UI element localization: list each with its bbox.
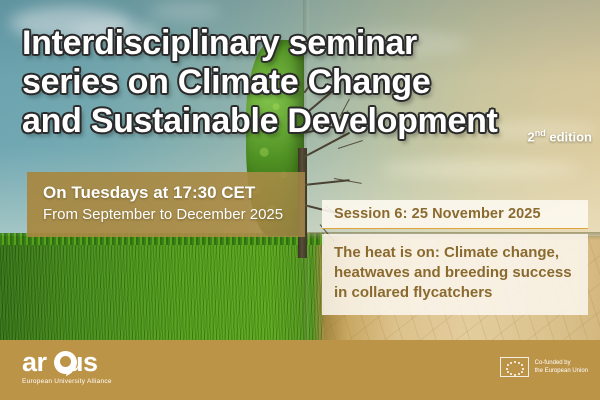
eu-funding-line-1: Co-funded by: [535, 359, 588, 367]
session-title: The heat is on: Climate change, heatwave…: [322, 234, 588, 315]
speech-bubble-q-icon: [54, 351, 77, 374]
arqus-word-before: ar: [22, 347, 47, 377]
seminar-poster: Interdisciplinary seminar series on Clim…: [0, 0, 600, 400]
grass-texture: [0, 236, 324, 340]
edition-number: 2: [528, 129, 535, 144]
arqus-logo[interactable]: arQus European University Alliance: [22, 350, 142, 385]
eu-flag-icon: [500, 357, 529, 377]
eu-funding-text: Co-funded by the European Union: [535, 359, 588, 375]
session-header: Session 6: 25 November 2025: [322, 200, 588, 229]
arqus-wordmark: arQus: [22, 350, 142, 375]
edition-label: 2nd edition: [528, 128, 592, 144]
title-line-3: and Sustainable Development: [22, 102, 588, 141]
schedule-time-text: On Tuesdays at 17:30 CET: [43, 181, 291, 204]
title-line-2: series on Climate Change: [22, 63, 588, 102]
edition-word: edition: [549, 129, 592, 144]
schedule-period-text: From September to December 2025: [43, 204, 291, 226]
footer-bar: arQus European University Alliance: [0, 340, 600, 400]
edition-ordinal-suffix: nd: [535, 128, 546, 138]
eu-funding-line-2: the European Union: [535, 367, 588, 375]
bare-twig: [338, 140, 363, 149]
schedule-info-box: On Tuesdays at 17:30 CET From September …: [27, 172, 305, 237]
page-title: Interdisciplinary seminar series on Clim…: [22, 24, 588, 141]
arqus-tagline: European University Alliance: [22, 378, 142, 385]
eu-funding-logo: Co-funded by the European Union: [500, 357, 588, 377]
title-line-1: Interdisciplinary seminar: [22, 24, 588, 63]
